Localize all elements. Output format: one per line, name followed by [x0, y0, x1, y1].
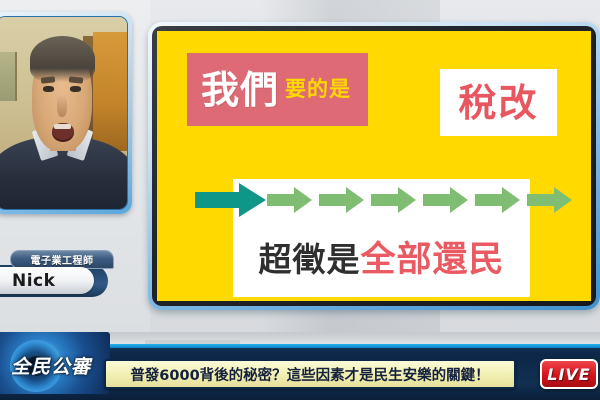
program-logo-text: 全民公審	[0, 352, 110, 379]
chain-arrow-icon	[527, 186, 573, 214]
video-door	[93, 32, 127, 151]
guest-video-inner	[0, 16, 128, 210]
video-teeth	[54, 124, 71, 130]
lead-arrow-icon	[195, 182, 267, 218]
guest-video-feed	[0, 17, 127, 209]
presentation-slide: 我們 要的是 稅改 超徵是全部還民	[157, 31, 591, 301]
slide-banner-emphasis: 我們	[201, 71, 279, 109]
slide-lower-dark-text: 超徵是	[258, 240, 360, 279]
slide-tax-reform-text: 稅改	[458, 84, 538, 122]
program-logo: 全民公審	[0, 332, 110, 394]
live-badge: LIVE	[540, 359, 598, 389]
slide-tax-reform-box: 稅改	[440, 69, 557, 136]
presentation-screen-bezel: 我們 要的是 稅改 超徵是全部還民	[152, 26, 596, 306]
guest-title-text: 電子業工程師	[31, 252, 94, 267]
broadcast-news-bar: 全民公審 普發6000背後的秘密？這些因素才是民生安樂的關鍵！ LIVE	[0, 344, 600, 400]
chain-arrow-icon	[475, 186, 521, 214]
video-wall-picture	[0, 52, 17, 102]
live-badge-text: LIVE	[547, 365, 590, 384]
guest-video-frame	[0, 12, 132, 214]
news-ticker-text: 普發6000背後的秘密？這些因素才是民生安樂的關鍵！	[130, 364, 489, 385]
video-eyebrow-right	[68, 76, 83, 83]
video-eyebrow-left	[41, 76, 56, 83]
guest-name-text: Nick	[0, 271, 55, 291]
guest-name-plate: Nick	[0, 267, 94, 294]
chain-arrow-icon	[371, 186, 417, 214]
video-nose	[57, 94, 67, 117]
chain-arrow-icon	[267, 186, 313, 214]
slide-lower-red-text: 全部還民	[360, 240, 504, 280]
slide-lower-text-line: 超徵是全部還民	[233, 231, 530, 282]
slide-banner-secondary: 要的是	[285, 79, 351, 100]
video-hair	[30, 36, 95, 82]
chain-arrow-icon	[319, 186, 365, 214]
video-eye-right	[70, 86, 82, 92]
slide-arrow-row	[157, 179, 591, 221]
guest-lower-third: 電子業工程師 Nick	[0, 250, 114, 302]
slide-red-banner: 我們 要的是	[187, 53, 368, 126]
video-eye-left	[43, 86, 55, 92]
presentation-screen-frame: 我們 要的是 稅改 超徵是全部還民	[148, 22, 600, 310]
chain-arrow-group	[267, 186, 573, 214]
studio-stage: 電子業工程師 Nick 我們 要的是 稅改 超徵是全部還民	[0, 0, 600, 400]
chain-arrow-icon	[423, 186, 469, 214]
news-ticker: 普發6000背後的秘密？這些因素才是民生安樂的關鍵！	[104, 359, 516, 389]
